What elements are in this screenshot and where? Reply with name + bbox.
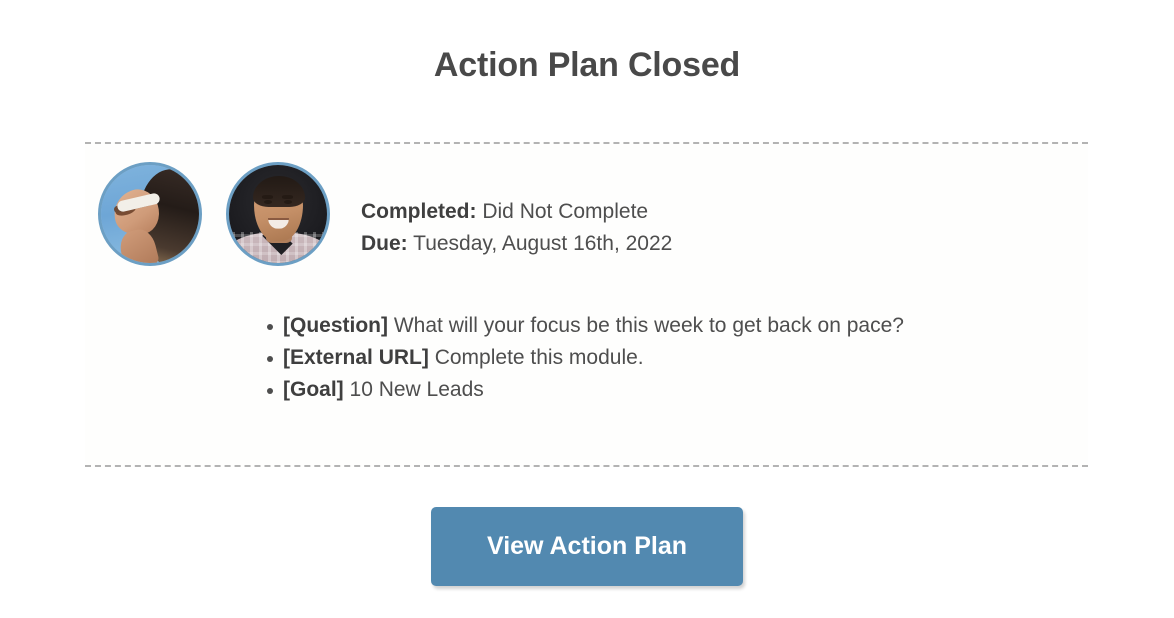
list-item: [Goal] 10 New Leads — [283, 374, 1088, 406]
list-item-tag: [Goal] — [283, 378, 344, 401]
action-item-list: [Question] What will your focus be this … — [85, 310, 1088, 406]
list-item-text: Complete this module. — [435, 346, 644, 369]
list-item: [Question] What will your focus be this … — [283, 310, 1088, 342]
view-action-plan-button[interactable]: View Action Plan — [431, 507, 743, 586]
list-item-tag: [Question] — [283, 314, 388, 337]
avatar-participant-2 — [226, 162, 330, 266]
status-block: Completed: Did Not Complete Due: Tuesday… — [361, 162, 672, 260]
avatar-2-brow-left — [262, 195, 273, 198]
completed-label: Completed: — [361, 200, 477, 223]
completed-line: Completed: Did Not Complete — [361, 196, 672, 228]
list-item-text: 10 New Leads — [350, 378, 484, 401]
due-line: Due: Tuesday, August 16th, 2022 — [361, 228, 672, 260]
due-value: Tuesday, August 16th, 2022 — [413, 232, 672, 255]
cta-container: View Action Plan — [0, 507, 1174, 586]
list-item: [External URL] Complete this module. — [283, 342, 1088, 374]
meta-row: Completed: Did Not Complete Due: Tuesday… — [85, 156, 1088, 266]
action-plan-card: Completed: Did Not Complete Due: Tuesday… — [85, 142, 1088, 467]
list-item-text: What will your focus be this week to get… — [394, 314, 904, 337]
avatar-2-eye-right — [284, 200, 292, 204]
page-title: Action Plan Closed — [0, 44, 1174, 86]
completed-value: Did Not Complete — [482, 200, 648, 223]
list-item-tag: [External URL] — [283, 346, 429, 369]
due-label: Due: — [361, 232, 408, 255]
avatar-2-brow-right — [282, 195, 293, 198]
avatar-group — [98, 162, 330, 266]
action-plan-email: Action Plan Closed — [0, 0, 1174, 618]
avatar-participant-1 — [98, 162, 202, 266]
